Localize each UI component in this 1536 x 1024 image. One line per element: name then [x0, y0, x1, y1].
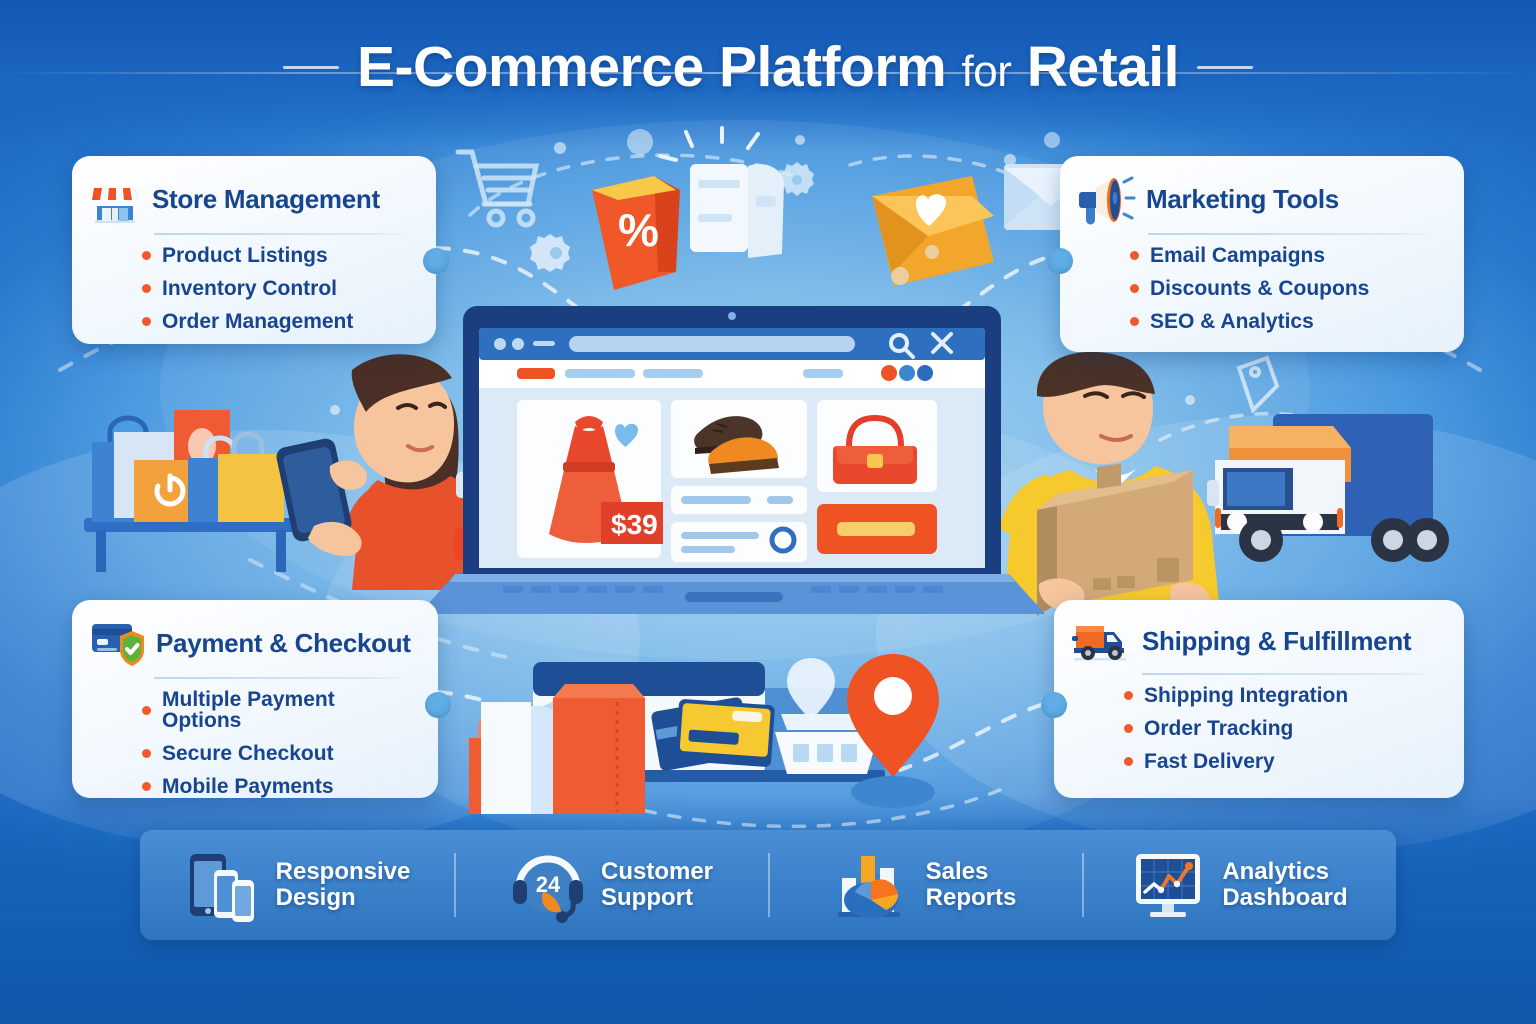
price-label: $39	[611, 509, 658, 540]
strip-item-sales-reports[interactable]: Sales Reports	[768, 849, 1082, 921]
bullet-item: Shipping Integration	[1124, 685, 1442, 706]
devices-icon	[184, 848, 262, 922]
bullet-item: Discounts & Coupons	[1130, 278, 1442, 299]
strip-label-line1: Analytics	[1222, 858, 1329, 885]
discount-percent-bag-icon: %	[592, 176, 680, 290]
bullet-label: Email Campaigns	[1150, 245, 1325, 266]
bullet-label: Inventory Control	[162, 278, 337, 299]
feature-card-store-management[interactable]: Store Management Product Listings Invent…	[72, 156, 436, 344]
bullet-dot-icon	[142, 706, 151, 715]
strip-item-label: Analytics Dashboard	[1222, 859, 1347, 911]
bullet-dot-icon	[1124, 757, 1133, 766]
connector-dot	[1041, 692, 1067, 718]
bullet-label: Order Management	[162, 311, 353, 332]
bullet-label: Fast Delivery	[1144, 751, 1275, 772]
strip-label-line2: Reports	[926, 884, 1017, 911]
bullet-dot-icon	[142, 749, 151, 758]
bullet-dot-icon	[1130, 251, 1139, 260]
strip-label-line2: Support	[601, 884, 693, 911]
checkout-shipping-illustration	[455, 640, 955, 820]
title-main: E-Commerce Platform	[357, 35, 946, 99]
card-divider	[154, 233, 410, 235]
bullet-label: Secure Checkout	[162, 743, 334, 764]
bullet-dot-icon	[142, 317, 151, 326]
card-divider	[1148, 233, 1438, 235]
bullet-item: SEO & Analytics	[1130, 311, 1442, 332]
support-hours-badge: 24	[536, 872, 561, 897]
woman-shopping-illustration	[78, 350, 478, 590]
map-pin-icon	[847, 654, 939, 808]
laptop-device: $39	[455, 300, 1085, 630]
bullet-item: Inventory Control	[142, 278, 414, 299]
storefront-icon	[90, 174, 140, 224]
strip-item-responsive-design[interactable]: Responsive Design	[140, 849, 454, 921]
svg-text:%: %	[618, 204, 659, 256]
title-light: for	[962, 47, 1012, 96]
strip-item-label: Responsive Design	[276, 859, 411, 911]
bullet-label: SEO & Analytics	[1150, 311, 1314, 332]
card-bullet-list: Email Campaigns Discounts & Coupons SEO …	[1078, 245, 1442, 332]
shopping-cart-icon	[458, 152, 536, 225]
strip-label-line1: Responsive	[276, 858, 411, 885]
title-rule-right	[1197, 66, 1253, 69]
price-tag-icon	[1239, 358, 1277, 410]
bullet-dot-icon	[1124, 691, 1133, 700]
gear-icon	[780, 162, 814, 196]
delivery-truck-icon	[1072, 618, 1130, 664]
card-divider	[154, 677, 412, 679]
headset-icon: 24	[509, 848, 587, 922]
bullet-label: Multiple Payment Options	[162, 689, 416, 731]
card-bullet-list: Multiple Payment Options Secure Checkout…	[90, 689, 416, 797]
connector-dot	[425, 692, 451, 718]
feature-card-payment-checkout[interactable]: Payment & Checkout Multiple Payment Opti…	[72, 600, 438, 798]
card-title: Payment & Checkout	[156, 628, 411, 659]
bullet-item: Fast Delivery	[1124, 751, 1442, 772]
gear-icon	[530, 234, 570, 272]
strip-item-customer-support[interactable]: 24 Customer Support	[454, 849, 768, 921]
bullet-label: Discounts & Coupons	[1150, 278, 1369, 299]
bullet-item: Mobile Payments	[142, 776, 416, 797]
strip-label-line1: Sales	[926, 858, 989, 885]
card-title: Store Management	[152, 184, 380, 215]
bullet-label: Shipping Integration	[1144, 685, 1348, 706]
floating-icons-group: %	[440, 130, 1100, 320]
bullet-item: Product Listings	[142, 245, 414, 266]
bullet-dot-icon	[1130, 284, 1139, 293]
megaphone-icon	[1078, 174, 1134, 224]
bullet-dot-icon	[142, 284, 151, 293]
bullet-dot-icon	[142, 782, 151, 791]
title-rule-left	[283, 66, 339, 69]
browser-address-bar	[569, 336, 855, 352]
strip-item-analytics-dashboard[interactable]: Analytics Dashboard	[1082, 849, 1396, 921]
strip-label-line1: Customer	[601, 858, 713, 885]
card-bullet-list: Product Listings Inventory Control Order…	[90, 245, 414, 332]
connector-dot	[423, 248, 449, 274]
bullet-label: Mobile Payments	[162, 776, 334, 797]
strip-item-label: Sales Reports	[926, 859, 1017, 911]
bullet-item: Order Management	[142, 311, 414, 332]
delivery-truck	[1207, 414, 1449, 562]
price-tag: $39	[601, 502, 663, 544]
bullet-label: Order Tracking	[1144, 718, 1293, 739]
bullet-dot-icon	[1130, 317, 1139, 326]
card-divider	[1142, 673, 1438, 675]
bar-pie-chart-icon	[834, 848, 912, 922]
title-text: E-Commerce Platform for Retail	[357, 34, 1179, 100]
bullet-label: Product Listings	[162, 245, 328, 266]
strip-label-line2: Design	[276, 884, 356, 911]
bullet-item: Secure Checkout	[142, 743, 416, 764]
strip-label-line2: Dashboard	[1222, 884, 1347, 911]
bullet-item: Email Campaigns	[1130, 245, 1442, 266]
bullet-dot-icon	[142, 251, 151, 260]
bullet-item: Multiple Payment Options	[142, 689, 416, 731]
feature-strip: Responsive Design 24 Customer Support	[140, 830, 1396, 940]
bullet-item: Order Tracking	[1124, 718, 1442, 739]
card-bullet-list: Shipping Integration Order Tracking Fast…	[1072, 685, 1442, 772]
page-title: E-Commerce Platform for Retail	[0, 34, 1536, 100]
title-end: Retail	[1027, 35, 1179, 99]
card-title: Shipping & Fulfillment	[1142, 626, 1411, 657]
credit-card-shield-icon	[90, 618, 144, 668]
envelope-heart-icon	[872, 176, 994, 286]
monitor-line-chart-icon	[1130, 848, 1208, 922]
strip-item-label: Customer Support	[601, 859, 713, 911]
connector-dot	[1047, 248, 1073, 274]
card-title: Marketing Tools	[1146, 184, 1339, 215]
bullet-dot-icon	[1124, 724, 1133, 733]
feature-card-shipping-fulfillment[interactable]: Shipping & Fulfillment Shipping Integrat…	[1054, 600, 1464, 798]
feature-card-marketing-tools[interactable]: Marketing Tools Email Campaigns Discount…	[1060, 156, 1464, 352]
